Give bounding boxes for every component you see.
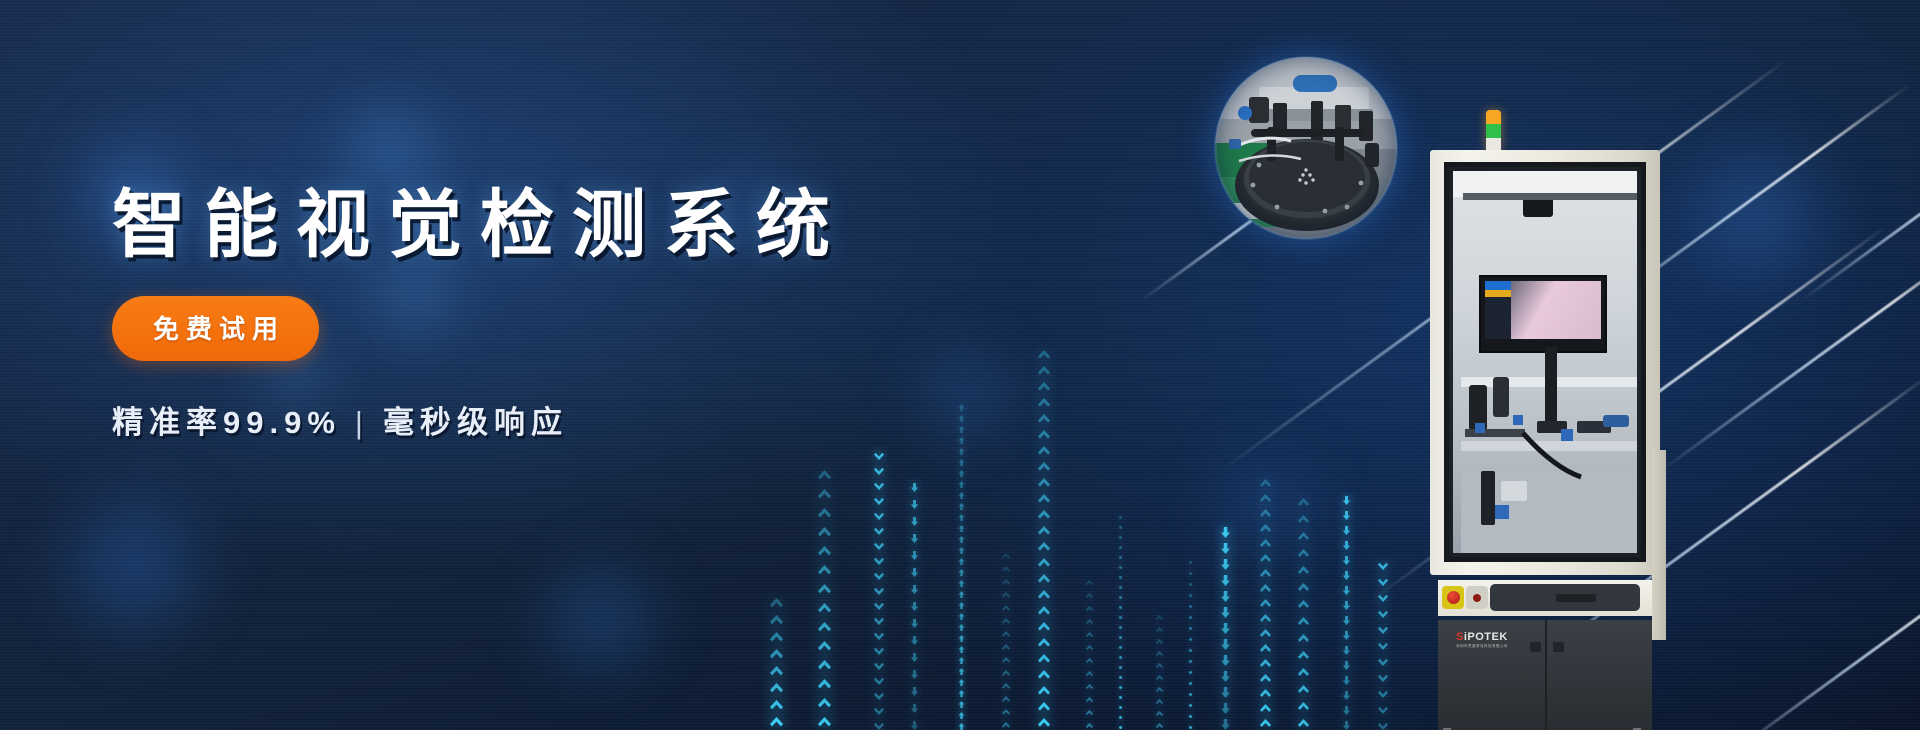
arrow-glyph <box>1038 462 1050 474</box>
light-streak <box>1799 124 1920 303</box>
arrow-glyph <box>1086 632 1093 639</box>
arrow-glyph <box>1188 593 1193 598</box>
arrow-glyph <box>1260 704 1271 715</box>
background-glow <box>40 470 230 660</box>
arrow-glyph <box>1188 615 1193 620</box>
page-title: 智能视觉检测系统 <box>112 188 1012 262</box>
arrow-glyph <box>1038 366 1050 378</box>
arrow-glyph <box>874 630 884 640</box>
arrow-glyph <box>1188 637 1193 642</box>
arrow-glyph <box>1118 565 1123 570</box>
arrow-glyph <box>1342 676 1351 685</box>
arrow-glyph <box>1156 651 1163 658</box>
brand-name: SiPOTEK <box>1456 632 1508 643</box>
arrow-glyph <box>1260 644 1271 655</box>
arrow-column <box>1118 515 1123 730</box>
status-tower-lamp <box>1486 110 1501 152</box>
arrow-glyph <box>1002 696 1010 704</box>
arrow-glyph <box>1298 583 1309 594</box>
arrow-column <box>1260 479 1271 730</box>
arrow-glyph <box>1038 398 1050 410</box>
arrow-glyph <box>1156 699 1163 706</box>
arrow-glyph <box>1038 510 1050 522</box>
arrow-glyph <box>958 547 965 554</box>
arrow-glyph <box>1378 608 1388 618</box>
arrow-glyph <box>958 613 965 620</box>
brand-subtitle: 深圳市思普泰克科技有限公司 <box>1456 645 1508 649</box>
arrow-glyph <box>1038 478 1050 490</box>
arrow-glyph <box>1118 665 1123 670</box>
arrow-glyph <box>1260 554 1271 565</box>
arrow-glyph <box>1118 575 1123 580</box>
arrow-glyph <box>910 636 919 645</box>
arrow-glyph <box>1342 661 1351 670</box>
arrow-glyph <box>1220 559 1231 570</box>
arrow-glyph <box>1188 670 1193 675</box>
arrow-glyph <box>910 517 919 526</box>
arrow-glyph <box>818 584 831 597</box>
arrow-glyph <box>1002 592 1010 600</box>
arrow-glyph <box>1342 616 1351 625</box>
arrow-glyph <box>1298 702 1309 713</box>
arrow-glyph <box>1378 624 1388 634</box>
arrow-glyph <box>910 568 919 577</box>
arrow-glyph <box>1038 446 1050 458</box>
arrow-column <box>874 450 884 730</box>
arrow-glyph <box>1260 584 1271 595</box>
arrow-glyph <box>874 690 884 700</box>
arrow-glyph <box>1342 511 1351 520</box>
arrow-glyph <box>1118 525 1123 530</box>
machine-frame <box>1430 150 1660 575</box>
arrow-glyph <box>1118 585 1123 590</box>
arrow-glyph <box>958 657 965 664</box>
arrow-glyph <box>818 603 831 616</box>
arrow-glyph <box>1188 560 1193 565</box>
arrow-glyph <box>1188 604 1193 609</box>
arrow-column <box>910 483 919 730</box>
arrow-glyph <box>958 580 965 587</box>
arrow-glyph <box>770 666 783 679</box>
arrow-glyph <box>1002 618 1010 626</box>
arrow-glyph <box>1086 710 1093 717</box>
arrow-glyph <box>1038 670 1050 682</box>
arrow-glyph <box>874 555 884 565</box>
hero-copy: 智能视觉检测系统 免费试用 精准率99.9%|毫秒级响应 <box>112 188 1012 442</box>
arrow-glyph <box>1038 382 1050 394</box>
arrow-glyph <box>958 514 965 521</box>
arrow-glyph <box>1220 703 1231 714</box>
arrow-glyph <box>1118 635 1123 640</box>
arrow-glyph <box>910 483 919 492</box>
arrow-glyph <box>958 492 965 499</box>
arrow-glyph <box>1118 545 1123 550</box>
arrow-glyph <box>1260 524 1271 535</box>
emergency-stop-button[interactable] <box>1442 586 1464 609</box>
arrow-glyph <box>1002 579 1010 587</box>
machine-interior <box>1453 171 1637 553</box>
arrow-glyph <box>1156 687 1163 694</box>
machine-cabinet[interactable]: SiPOTEK 深圳市思普泰克科技有限公司 <box>1438 620 1652 730</box>
arrow-column <box>958 404 965 730</box>
arrow-glyph <box>874 675 884 685</box>
arrow-glyph <box>1260 599 1271 610</box>
arrow-glyph <box>1342 691 1351 700</box>
arrow-column <box>1220 527 1231 730</box>
arrow-glyph <box>818 679 831 692</box>
arrow-glyph <box>770 649 783 662</box>
arrow-glyph <box>1002 605 1010 613</box>
arrow-glyph <box>874 450 884 460</box>
arrow-glyph <box>1118 605 1123 610</box>
arrow-column <box>1188 560 1193 730</box>
arrow-glyph <box>818 470 831 483</box>
arrow-glyph <box>1378 688 1388 698</box>
arrow-column <box>1086 580 1093 730</box>
subline-separator: | <box>355 405 369 440</box>
arrow-glyph <box>1156 675 1163 682</box>
arrow-glyph <box>818 527 831 540</box>
arrow-glyph <box>958 690 965 697</box>
arrow-glyph <box>958 635 965 642</box>
arrow-glyph <box>1118 625 1123 630</box>
accuracy-stat: 精准率99.9% <box>112 405 341 440</box>
arrow-glyph <box>1298 617 1309 628</box>
free-trial-button[interactable]: 免费试用 <box>112 296 319 361</box>
arrow-glyph <box>1156 723 1163 730</box>
arrow-glyph <box>1118 675 1123 680</box>
arrow-glyph <box>1260 659 1271 670</box>
arrow-glyph <box>1086 671 1093 678</box>
arrow-glyph <box>1298 515 1309 526</box>
arrow-glyph <box>1342 601 1351 610</box>
arrow-glyph <box>1260 674 1271 685</box>
arrow-glyph <box>1260 629 1271 640</box>
arrow-glyph <box>770 717 783 730</box>
arrow-glyph <box>1260 494 1271 505</box>
arrow-glyph <box>1220 591 1231 602</box>
arrow-glyph <box>1002 657 1010 665</box>
machine-side-column <box>1652 450 1666 640</box>
arrow-glyph <box>1038 622 1050 634</box>
arrow-glyph <box>1156 639 1163 646</box>
arrow-glyph <box>1220 623 1231 634</box>
arrow-glyph <box>958 668 965 675</box>
arrow-glyph <box>1378 672 1388 682</box>
arrow-glyph <box>1118 615 1123 620</box>
arrow-glyph <box>1378 656 1388 666</box>
arrow-glyph <box>958 503 965 510</box>
arrow-glyph <box>1378 560 1388 570</box>
arrow-glyph <box>1038 494 1050 506</box>
arrow-glyph <box>1342 631 1351 640</box>
arrow-glyph <box>1038 574 1050 586</box>
arrow-glyph <box>1002 709 1010 717</box>
arrow-column <box>818 470 831 730</box>
arrow-glyph <box>1260 479 1271 490</box>
arrow-glyph <box>1086 697 1093 704</box>
arrow-glyph <box>1342 586 1351 595</box>
arrow-glyph <box>1038 350 1050 362</box>
cabinet-handle-right[interactable] <box>1553 642 1564 652</box>
arrow-glyph <box>910 670 919 679</box>
arrow-glyph <box>874 720 884 730</box>
arrow-glyph <box>958 679 965 686</box>
arrow-glyph <box>1086 645 1093 652</box>
arrow-glyph <box>1220 687 1231 698</box>
arrow-glyph <box>874 585 884 595</box>
arrow-glyph <box>1038 702 1050 714</box>
arrow-glyph <box>818 641 831 654</box>
arrow-glyph <box>958 701 965 708</box>
arrow-glyph <box>910 619 919 628</box>
arrow-glyph <box>1156 663 1163 670</box>
arrow-glyph <box>874 510 884 520</box>
arrow-glyph <box>1118 685 1123 690</box>
arrow-glyph <box>1378 640 1388 650</box>
arrow-glyph <box>1188 703 1193 708</box>
arrow-glyph <box>958 602 965 609</box>
arrow-column <box>1342 496 1351 730</box>
arrow-glyph <box>1298 498 1309 509</box>
arrow-glyph <box>910 551 919 560</box>
arrow-glyph <box>958 448 965 455</box>
arrow-glyph <box>818 717 831 730</box>
arrow-glyph <box>1260 689 1271 700</box>
arrow-glyph <box>1342 541 1351 550</box>
arrow-glyph <box>874 525 884 535</box>
arrow-glyph <box>1342 526 1351 535</box>
arrow-glyph <box>958 712 965 719</box>
arrow-glyph <box>874 615 884 625</box>
arrow-glyph <box>1086 658 1093 665</box>
arrow-glyph <box>874 705 884 715</box>
arrow-glyph <box>1188 626 1193 631</box>
arrow-glyph <box>1298 532 1309 543</box>
arrow-glyph <box>1002 631 1010 639</box>
arrow-glyph <box>1038 654 1050 666</box>
arrow-column <box>1156 615 1163 730</box>
arrow-glyph <box>1260 614 1271 625</box>
machine-internals <box>1453 171 1637 553</box>
arrow-glyph <box>958 558 965 565</box>
arrow-glyph <box>1002 566 1010 574</box>
arrow-glyph <box>1260 509 1271 520</box>
arrow-glyph <box>1298 549 1309 560</box>
arrow-glyph <box>958 525 965 532</box>
arrow-glyph <box>910 653 919 662</box>
arrow-glyph <box>770 632 783 645</box>
arrow-glyph <box>874 480 884 490</box>
hero-banner: SiPOTEK 深圳市思普泰克科技有限公司 智能视觉检测系统 免费试用 精准率9… <box>0 0 1920 730</box>
arrow-glyph <box>1002 644 1010 652</box>
arrow-glyph <box>1188 681 1193 686</box>
arrow-glyph <box>1038 718 1050 730</box>
arrow-glyph <box>1188 571 1193 576</box>
arrow-glyph <box>958 569 965 576</box>
light-streak <box>1719 537 1920 730</box>
cabinet-handle-left[interactable] <box>1530 642 1541 652</box>
background-glow <box>520 540 680 700</box>
arrow-glyph <box>1220 671 1231 682</box>
arrow-glyph <box>770 700 783 713</box>
arrow-glyph <box>1188 582 1193 587</box>
arrow-glyph <box>1118 515 1123 520</box>
arrow-column <box>770 598 783 730</box>
arrow-glyph <box>1298 668 1309 679</box>
arrow-glyph <box>770 615 783 628</box>
arrow-glyph <box>958 536 965 543</box>
machine-viewing-window <box>1444 162 1646 562</box>
arrow-glyph <box>958 723 965 730</box>
arrow-glyph <box>958 624 965 631</box>
arrow-glyph <box>1118 655 1123 660</box>
arrow-glyph <box>1086 723 1093 730</box>
arrow-glyph <box>1220 607 1231 618</box>
arrow-glyph <box>1342 496 1351 505</box>
logo-accent-mark: S <box>1456 631 1464 643</box>
arrow-glyph <box>1342 571 1351 580</box>
arrow-glyph <box>1118 725 1123 730</box>
arrow-glyph <box>910 704 919 713</box>
arrow-glyph <box>910 585 919 594</box>
arrow-glyph <box>874 600 884 610</box>
arrow-glyph <box>1298 651 1309 662</box>
arrow-glyph <box>1002 553 1010 561</box>
arrow-glyph <box>1220 639 1231 650</box>
arrow-glyph <box>874 660 884 670</box>
arrow-glyph <box>1378 576 1388 586</box>
arrow-glyph <box>1298 634 1309 645</box>
arrow-glyph <box>1342 721 1351 730</box>
arrow-glyph <box>1038 590 1050 602</box>
product-inset-photo <box>1215 57 1397 239</box>
arrow-column <box>1038 350 1050 730</box>
arrow-glyph <box>1118 535 1123 540</box>
arrow-glyph <box>1342 556 1351 565</box>
arrow-glyph <box>1038 430 1050 442</box>
arrow-glyph <box>1220 543 1231 554</box>
arrow-glyph <box>1086 580 1093 587</box>
arrow-glyph <box>818 508 831 521</box>
panel-slot <box>1556 594 1596 602</box>
arrow-glyph <box>874 495 884 505</box>
arrow-glyph <box>1378 720 1388 730</box>
arrow-glyph <box>1188 692 1193 697</box>
reset-button[interactable] <box>1466 586 1488 609</box>
arrow-glyph <box>910 534 919 543</box>
arrow-glyph <box>1038 686 1050 698</box>
arrow-glyph <box>1298 719 1309 730</box>
arrow-glyph <box>818 660 831 673</box>
arrow-glyph <box>1118 705 1123 710</box>
arrow-glyph <box>1220 655 1231 666</box>
arrow-glyph <box>1220 719 1231 730</box>
arrow-glyph <box>958 646 965 653</box>
arrow-glyph <box>1188 648 1193 653</box>
arrow-column <box>1378 560 1388 730</box>
arrow-glyph <box>1038 414 1050 426</box>
arrow-glyph <box>1118 555 1123 560</box>
response-stat: 毫秒级响应 <box>383 405 568 440</box>
arrow-glyph <box>1002 670 1010 678</box>
arrow-glyph <box>1260 569 1271 580</box>
arrow-glyph <box>1378 592 1388 602</box>
arrow-glyph <box>1298 600 1309 611</box>
arrow-glyph <box>1002 722 1010 730</box>
arrow-glyph <box>958 470 965 477</box>
arrow-glyph <box>1260 719 1271 730</box>
hero-subline: 精准率99.9%|毫秒级响应 <box>112 397 1012 442</box>
light-streak <box>1659 235 1920 473</box>
arrow-glyph <box>910 721 919 730</box>
product-machine: SiPOTEK 深圳市思普泰克科技有限公司 <box>1430 150 1660 730</box>
arrow-glyph <box>910 602 919 611</box>
machine-control-panel <box>1438 580 1652 616</box>
arrow-glyph <box>910 687 919 696</box>
arrow-glyph <box>818 546 831 559</box>
arrow-glyph <box>958 459 965 466</box>
arrow-glyph <box>1038 526 1050 538</box>
arrow-glyph <box>1298 685 1309 696</box>
arrow-glyph <box>1220 527 1231 538</box>
arrow-glyph <box>1038 606 1050 618</box>
arrow-glyph <box>1118 595 1123 600</box>
arrow-glyph <box>770 598 783 611</box>
arrow-glyph <box>1118 695 1123 700</box>
arrow-glyph <box>1156 615 1163 622</box>
arrow-glyph <box>1118 715 1123 720</box>
arrow-glyph <box>1002 683 1010 691</box>
arrow-glyph <box>1156 627 1163 634</box>
arrow-column <box>1298 498 1309 730</box>
arrow-glyph <box>874 570 884 580</box>
arrow-glyph <box>1342 646 1351 655</box>
arrow-glyph <box>1188 714 1193 719</box>
arrow-glyph <box>1260 539 1271 550</box>
arrow-glyph <box>1038 558 1050 570</box>
arrow-glyph <box>818 698 831 711</box>
arrow-glyph <box>1038 638 1050 650</box>
arrow-glyph <box>1038 542 1050 554</box>
arrow-glyph <box>1298 566 1309 577</box>
arrow-glyph <box>1156 711 1163 718</box>
arrow-glyph <box>1188 659 1193 664</box>
background-glow <box>1660 120 1850 310</box>
arrow-glyph <box>1086 684 1093 691</box>
arrow-glyph <box>874 540 884 550</box>
arrow-glyph <box>874 465 884 475</box>
arrow-glyph <box>1220 575 1231 586</box>
arrow-glyph <box>770 683 783 696</box>
arrow-glyph <box>1188 725 1193 730</box>
arrow-glyph <box>1086 606 1093 613</box>
arrow-glyph <box>958 591 965 598</box>
arrow-column <box>1002 553 1010 730</box>
brand-wordmark: iPOTEK <box>1464 631 1508 643</box>
arrow-glyph <box>910 500 919 509</box>
arrow-glyph <box>958 481 965 488</box>
arrow-glyph <box>1086 619 1093 626</box>
arrow-glyph <box>1118 645 1123 650</box>
brand-logo: SiPOTEK 深圳市思普泰克科技有限公司 <box>1456 632 1508 649</box>
arrow-glyph <box>874 645 884 655</box>
arrow-glyph <box>1342 706 1351 715</box>
inset-vignette <box>1215 57 1397 239</box>
arrow-glyph <box>818 489 831 502</box>
arrow-glyph <box>1378 704 1388 714</box>
arrow-glyph <box>818 565 831 578</box>
